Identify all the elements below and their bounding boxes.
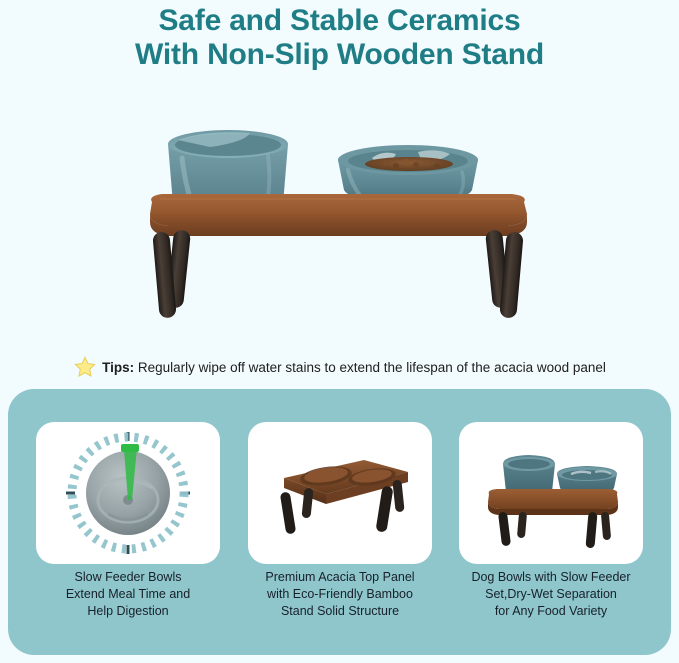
page-title: Safe and Stable Ceramics With Non-Slip W… <box>0 4 679 72</box>
wooden-stand-icon <box>248 422 432 564</box>
hero-product-image <box>0 92 679 350</box>
caption-line: for Any Food Variety <box>446 603 656 620</box>
title-line-2: With Non-Slip Wooden Stand <box>0 38 679 72</box>
feature-caption-complete-set: Dog Bowls with Slow Feeder Set,Dry-Wet S… <box>446 569 656 620</box>
feature-caption-wood-stand: Premium Acacia Top Panel with Eco-Friend… <box>235 569 445 620</box>
caption-line: Slow Feeder Bowls <box>23 569 233 586</box>
feature-card-list: Slow Feeder Bowls Extend Meal Time and H… <box>8 389 671 655</box>
complete-set-icon <box>459 422 643 564</box>
star-icon <box>73 355 97 379</box>
feature-card-wood-stand[interactable] <box>248 422 432 564</box>
caption-line: Premium Acacia Top Panel <box>235 569 445 586</box>
feature-card-complete-set[interactable] <box>459 422 643 564</box>
wood-top-panel <box>150 194 527 236</box>
stand-legs <box>152 229 523 318</box>
feature-panel: Slow Feeder Bowls Extend Meal Time and H… <box>8 389 671 655</box>
feature-caption-slow-feeder: Slow Feeder Bowls Extend Meal Time and H… <box>23 569 233 620</box>
tips-label: Tips: <box>102 360 134 375</box>
caption-line: Help Digestion <box>23 603 233 620</box>
caption-line: Set,Dry-Wet Separation <box>446 586 656 603</box>
tips-row: Tips: Regularly wipe off water stains to… <box>0 354 679 380</box>
title-line-1: Safe and Stable Ceramics <box>0 4 679 38</box>
caption-line: with Eco-Friendly Bamboo <box>235 586 445 603</box>
caption-line: Dog Bowls with Slow Feeder <box>446 569 656 586</box>
tips-body: Regularly wipe off water stains to exten… <box>138 360 606 375</box>
tips-text: Tips: Regularly wipe off water stains to… <box>102 360 606 375</box>
caption-line: Stand Solid Structure <box>235 603 445 620</box>
slow-feeder-dial-icon <box>36 422 220 564</box>
caption-line: Extend Meal Time and <box>23 586 233 603</box>
feature-card-slow-feeder[interactable] <box>36 422 220 564</box>
product-photo-icon <box>0 92 679 350</box>
